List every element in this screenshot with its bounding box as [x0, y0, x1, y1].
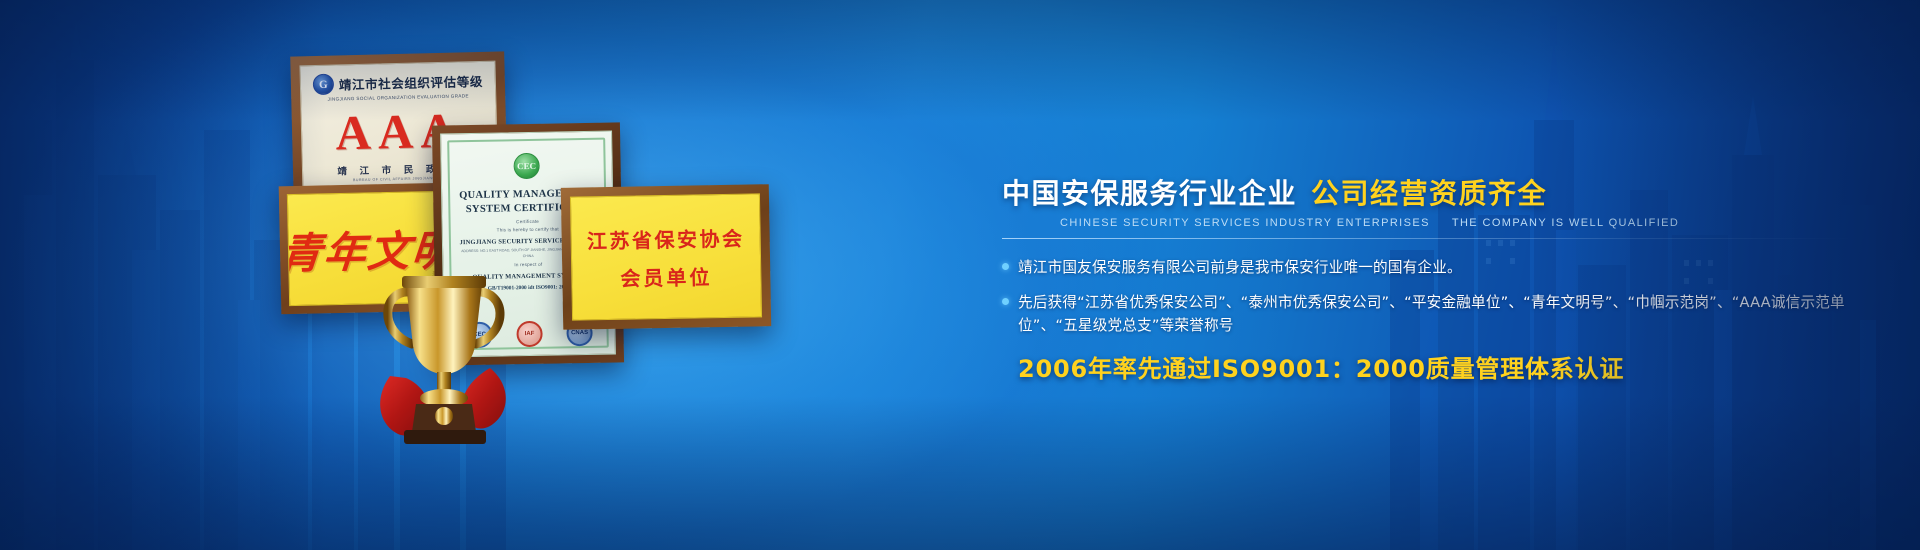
- subtitle-en-right: THE COMPANY IS WELL QUALIFIED: [1452, 217, 1679, 229]
- cec-logo-icon: CEC: [513, 153, 539, 179]
- banner-copy-block: 中国安保服务行业企业 公司经营资质齐全 CHINESE SECURITY SER…: [1002, 172, 1852, 384]
- promo-banner: 靖江市社会组织评估等级 JINGJIANG SOCIAL ORGANIZATIO…: [0, 0, 1920, 550]
- gold-trophy-icon: [372, 248, 522, 448]
- headline-row: 中国安保服务行业企业 公司经营资质齐全: [1002, 172, 1852, 212]
- bullet-dot-icon: [1002, 263, 1009, 270]
- association-plaque-line1: 江苏省保安协会: [587, 222, 745, 254]
- bullet-text-2: 先后获得“江苏省优秀保安公司”、“泰州市优秀保安公司”、“平安金融单位”、“青年…: [1018, 291, 1852, 338]
- awards-cluster: 靖江市社会组织评估等级 JINGJIANG SOCIAL ORGANIZATIO…: [262, 38, 802, 458]
- headline-primary: 中国安保服务行业企业: [1002, 172, 1297, 212]
- association-plaque-line2: 会员单位: [620, 261, 712, 292]
- bullet-dot-icon: [1002, 298, 1009, 305]
- list-item: 靖江市国友保安服务有限公司前身是我市保安行业唯一的国有企业。: [1002, 256, 1852, 280]
- jingjiang-civil-affairs-seal-icon: [313, 74, 335, 96]
- jiangsu-security-association-plaque: 江苏省保安协会 会员单位: [561, 184, 771, 330]
- subtitle-en-left: CHINESE SECURITY SERVICES INDUSTRY ENTER…: [1060, 217, 1430, 229]
- qms-subtitle: Certificate: [516, 219, 539, 224]
- headline-secondary: 公司经营资质齐全: [1311, 172, 1547, 212]
- aaa-plaque-title-cn: 靖江市社会组织评估等级: [339, 71, 484, 94]
- headline-subtitle-row: CHINESE SECURITY SERVICES INDUSTRY ENTER…: [1002, 217, 1852, 229]
- qms-intro: This is hereby to certify that: [497, 227, 559, 233]
- bullet-text-1: 靖江市国友保安服务有限公司前身是我市保安行业唯一的国有企业。: [1018, 256, 1462, 280]
- list-item: 先后获得“江苏省优秀保安公司”、“泰州市优秀保安公司”、“平安金融单位”、“青年…: [1002, 291, 1852, 338]
- headline-divider: [1002, 238, 1852, 239]
- aaa-plaque-title-en: JINGJIANG SOCIAL ORGANIZATION EVALUATION…: [328, 93, 469, 101]
- bullet-list: 靖江市国友保安服务有限公司前身是我市保安行业唯一的国有企业。 先后获得“江苏省优…: [1002, 256, 1852, 338]
- iso-certification-highlight: 2006年率先通过ISO9001：2000质量管理体系认证: [1002, 349, 1852, 384]
